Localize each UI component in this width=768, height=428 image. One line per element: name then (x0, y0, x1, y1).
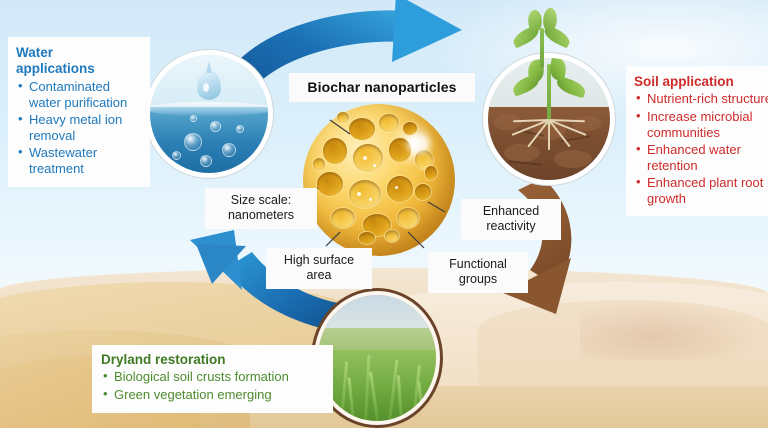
dryland-restoration-box: Dryland restoration Biological soil crus… (92, 345, 333, 413)
figure-canvas: Biochar nanoparticles Size scale: nanome… (0, 0, 768, 428)
water-box-title-line2: applications (16, 61, 95, 76)
list-item: Enhanced water retention (634, 142, 768, 174)
callout-enhanced-reactivity: Enhanced reactivity (461, 199, 561, 240)
soil-application-box: Soil application Nutrient-rich structure… (626, 66, 768, 216)
list-item: Biological soil crusts formation (101, 369, 327, 385)
dryland-box-title: Dryland restoration (101, 352, 327, 368)
list-item: Contaminated water purification (16, 79, 144, 111)
list-item: Nutrient-rich structure (634, 91, 768, 107)
water-applications-box: Water applications Contaminated water pu… (8, 37, 150, 187)
callout-functional-groups: Functional groups (428, 252, 528, 293)
list-item: Enhanced plant root growth (634, 175, 768, 207)
callout-size-scale: Size scale: nanometers (205, 188, 317, 229)
list-item: Wastewater treatment (16, 145, 144, 177)
water-box-title: Water applications (16, 45, 144, 78)
dryland-box-list: Biological soil crusts formation Green v… (101, 369, 327, 402)
soil-box-list: Nutrient-rich structure Increase microbi… (634, 91, 768, 207)
page-title: Biochar nanoparticles (289, 73, 475, 102)
callout-high-surface-area: High surface area (266, 248, 372, 289)
soil-box-title: Soil application (634, 74, 768, 90)
list-item: Increase microbial communities (634, 109, 768, 141)
list-item: Heavy metal ion removal (16, 112, 144, 144)
water-box-title-line1: Water (16, 45, 53, 60)
list-item: Green vegetation emerging (101, 387, 327, 403)
water-box-list: Contaminated water purification Heavy me… (16, 79, 144, 178)
